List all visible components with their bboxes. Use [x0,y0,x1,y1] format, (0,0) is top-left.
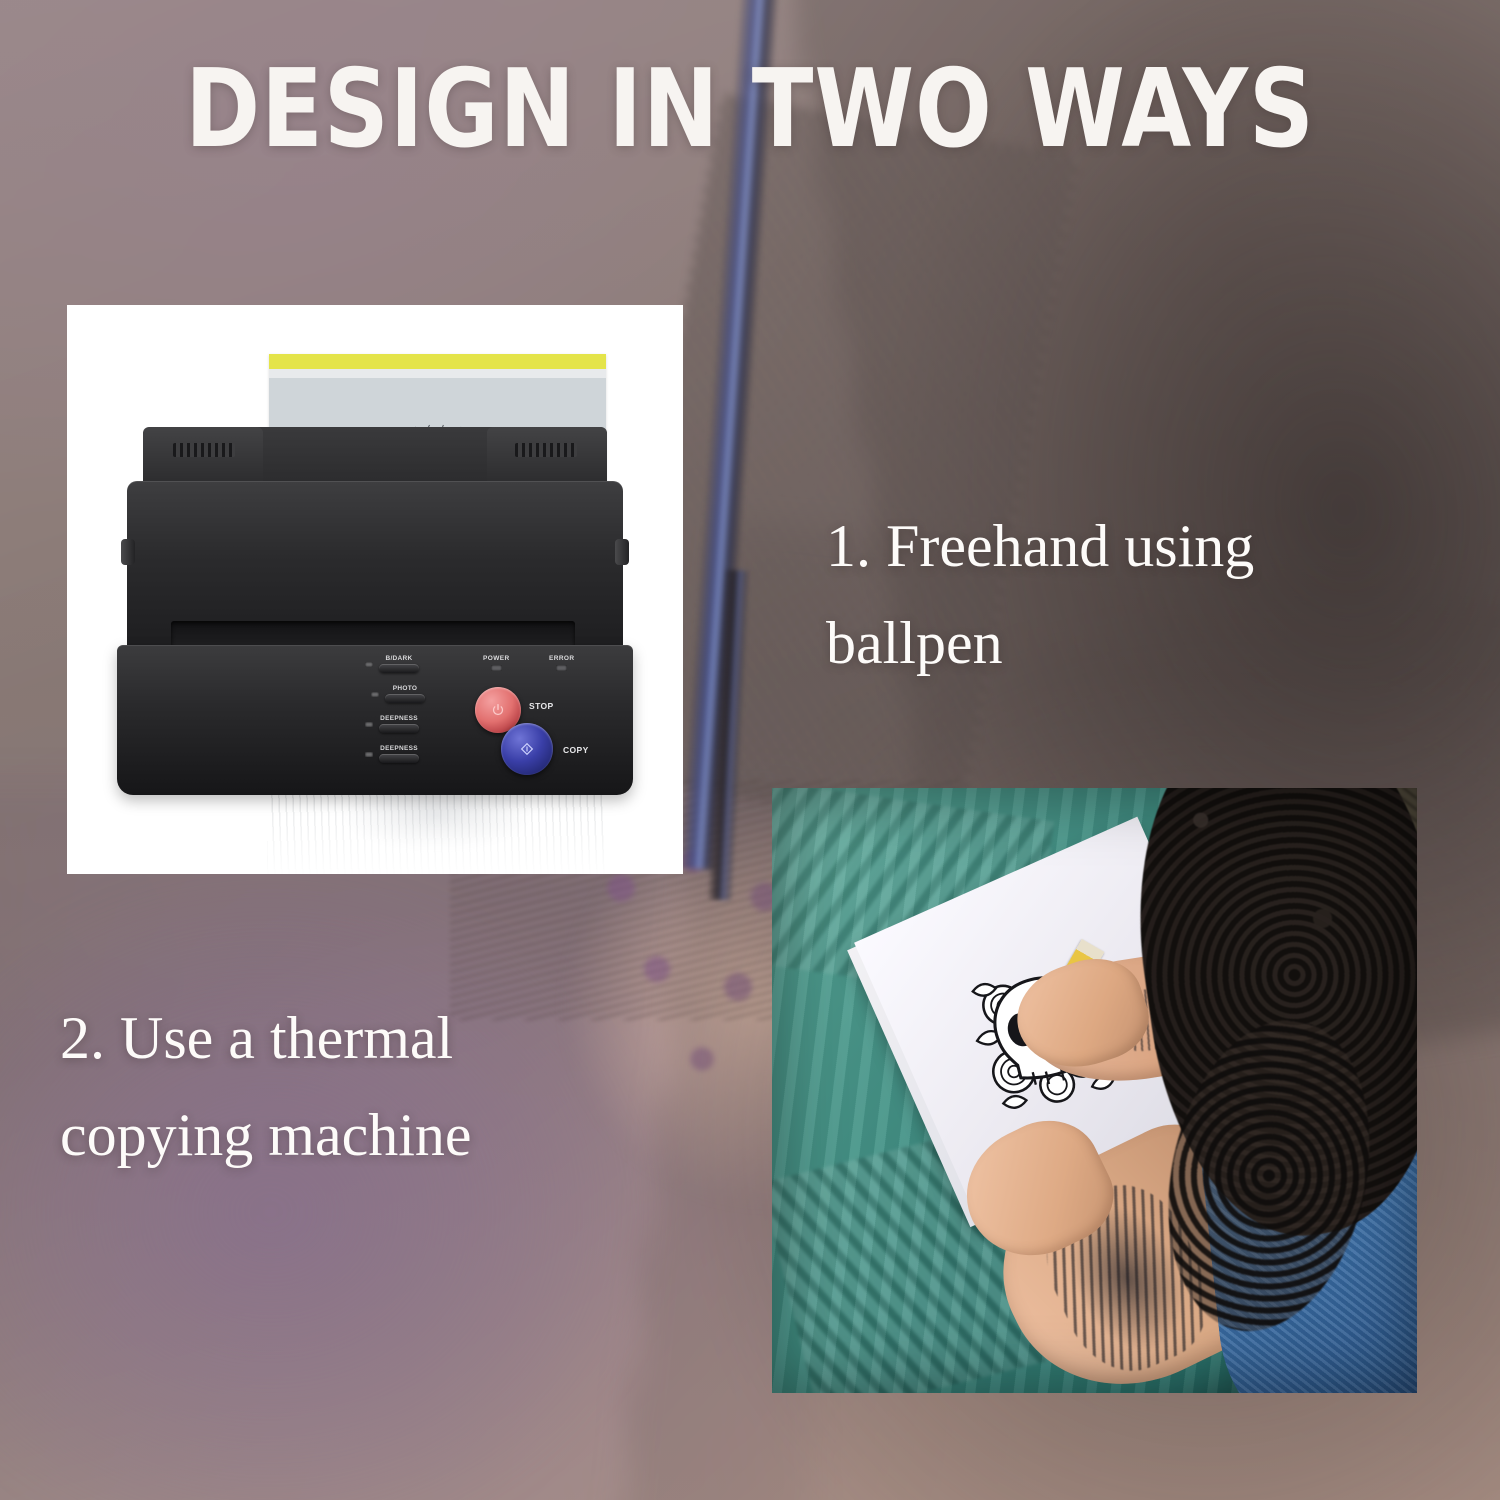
power-led [491,665,502,671]
copy-diamond-icon [520,742,534,756]
step-1-text: 1. Freehand using ballpen [826,498,1466,692]
step-2-text: 2. Use a thermal copying machine [60,990,720,1184]
photo-vignette [772,788,1417,1393]
error-indicator: ERROR [549,655,574,671]
mode-button-4[interactable]: DEEPNESS [365,745,419,763]
power-icon [491,703,505,717]
stop-label: STOP [529,701,554,711]
mode-label-4: DEEPNESS [380,745,418,752]
copy-button[interactable] [501,723,553,775]
copy-label: COPY [563,745,589,755]
vent-icon [173,443,235,457]
copier-left-hinge [121,539,135,565]
mode-key-2[interactable] [385,694,425,703]
mode-led-1 [365,662,373,667]
mode-label-2: PHOTO [393,685,418,692]
mode-button-1[interactable]: B/DARK [365,655,419,673]
mode-led-3 [365,722,373,727]
stencil-sheet-yellow-strip [269,354,606,369]
mode-button-2[interactable]: PHOTO [371,685,425,703]
mode-key-1[interactable] [379,664,419,673]
artist-drawing-photo [772,788,1417,1393]
mode-label-3: DEEPNESS [380,715,418,722]
mode-led-4 [365,752,373,757]
mode-key-3[interactable] [379,724,419,733]
error-led [556,665,567,671]
stencil-sheet-white-strip [269,369,606,378]
thermal-copier-illustration: B/DARK PHOTO DEEPNESS [67,305,683,874]
power-label: POWER [483,655,510,662]
page-title: DESIGN IN TWO WAYS [53,56,1448,164]
mode-key-4[interactable] [379,754,419,763]
vent-icon [515,443,577,457]
poster-canvas: DESIGN IN TWO WAYS [0,0,1500,1500]
printed-stencil-ghost-shade [303,791,571,874]
copier-right-hinge [615,539,629,565]
mode-label-1: B/DARK [385,655,412,662]
power-indicator: POWER [483,655,510,671]
thermal-copier-card: B/DARK PHOTO DEEPNESS [67,305,683,874]
error-label: ERROR [549,655,574,662]
copier-control-panel: B/DARK PHOTO DEEPNESS [363,653,629,785]
mode-button-3[interactable]: DEEPNESS [365,715,419,733]
mode-led-2 [371,692,379,697]
